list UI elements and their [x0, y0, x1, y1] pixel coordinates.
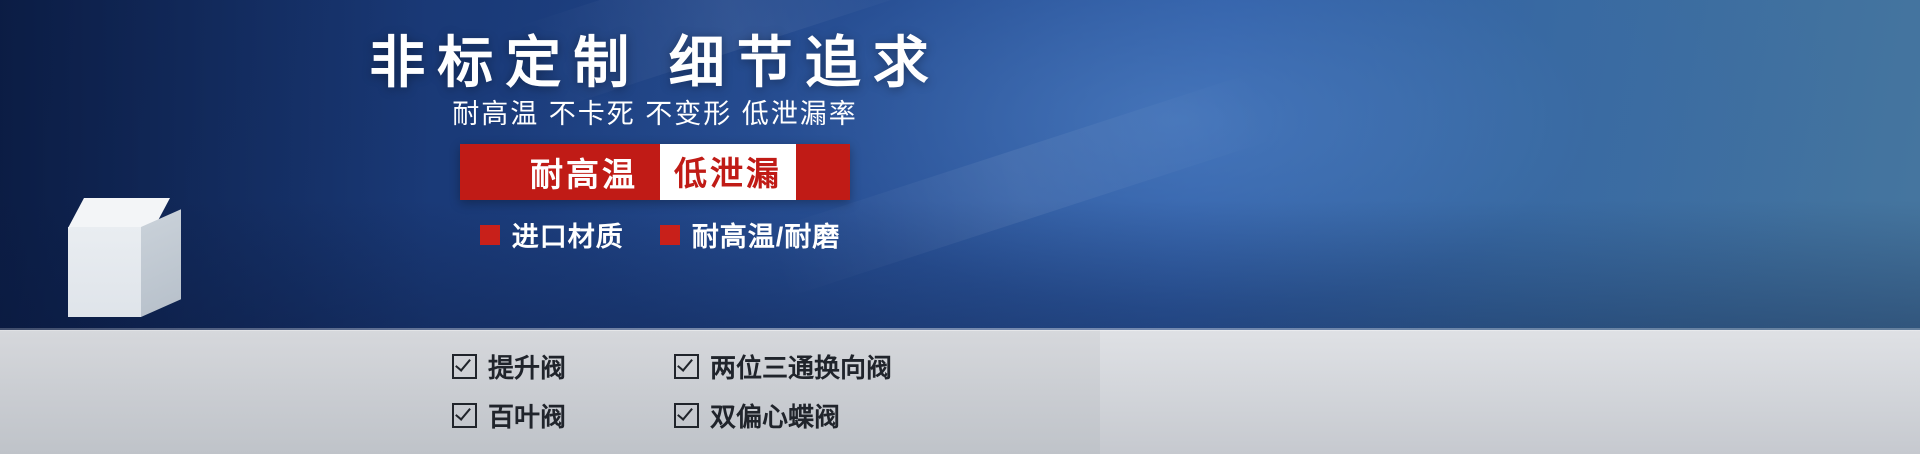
promo-banner: 非标定制 细节追求 耐高温 不卡死 不变形 低泄漏率 耐高温 低泄漏 进口材质 …	[0, 0, 1920, 454]
highlight-badge: 耐高温 低泄漏	[460, 144, 850, 200]
checklist-label: 百叶阀	[488, 397, 566, 434]
checklist-item: 百叶阀	[452, 397, 652, 434]
red-square-icon	[660, 225, 680, 245]
check-icon	[674, 403, 699, 428]
checklist-item: 提升阀	[452, 348, 652, 385]
cube-side-face	[141, 209, 181, 317]
badge-left-label: 耐高温	[514, 148, 654, 196]
feature-row: 进口材质 耐高温/耐磨	[440, 215, 880, 254]
checklist-item: 两位三通换向阀	[674, 348, 892, 385]
feature-item: 进口材质	[480, 215, 624, 254]
checklist-item: 双偏心蝶阀	[674, 397, 892, 434]
badge-right-label: 低泄漏	[660, 144, 796, 200]
checklist-label: 双偏心蝶阀	[710, 397, 840, 434]
checklist-label: 两位三通换向阀	[710, 348, 892, 385]
product-checklist: 提升阀 两位三通换向阀 百叶阀 双偏心蝶阀	[452, 348, 892, 434]
cube-front-face	[68, 227, 141, 317]
check-icon	[452, 403, 477, 428]
checklist-label: 提升阀	[488, 348, 566, 385]
check-icon	[674, 354, 699, 379]
feature-item: 耐高温/耐磨	[660, 215, 841, 254]
check-icon	[452, 354, 477, 379]
subheadline: 耐高温 不卡死 不变形 低泄漏率	[345, 92, 965, 131]
headline: 非标定制 细节追求	[345, 18, 965, 99]
feature-label: 耐高温/耐磨	[692, 215, 841, 254]
feature-label: 进口材质	[512, 215, 624, 254]
product-illustration	[1050, 0, 1670, 420]
red-square-icon	[480, 225, 500, 245]
